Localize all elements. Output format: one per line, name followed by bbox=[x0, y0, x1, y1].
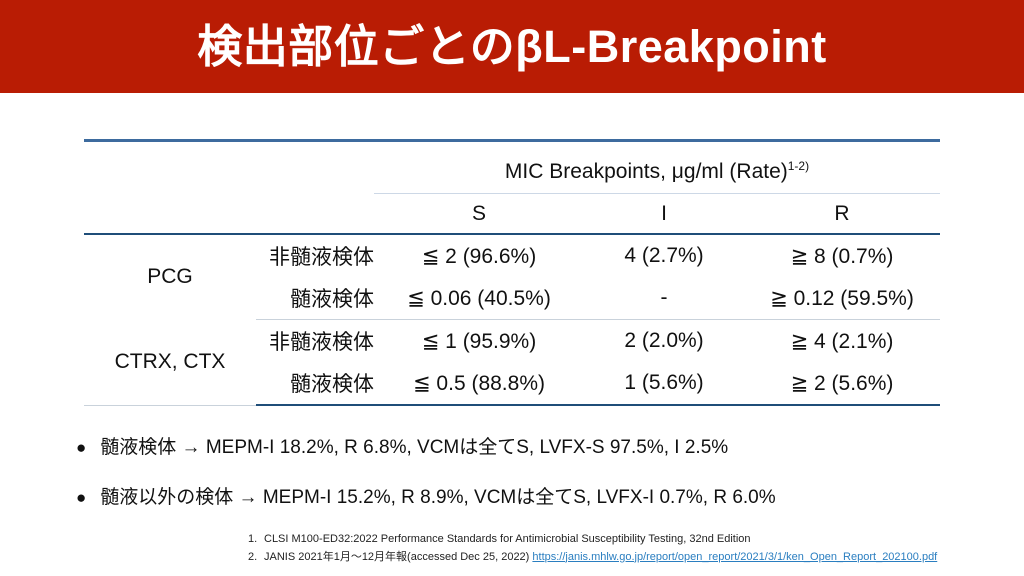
page-title: 検出部位ごとのβL-Breakpoint bbox=[197, 24, 827, 69]
sample-label: 非髄液検体 bbox=[256, 234, 374, 277]
table-sir-header-row: S I R bbox=[84, 194, 940, 235]
bullet-text: 髄液以外の検体 → MEPM-I 15.2%, R 8.9%, VCMは全てS,… bbox=[100, 482, 775, 509]
value-s: ≦ 1 (95.9%) bbox=[374, 320, 584, 363]
value-i: - bbox=[584, 277, 744, 320]
footnote-number: 2. bbox=[248, 549, 264, 567]
value-s: ≦ 0.5 (88.8%) bbox=[374, 362, 584, 405]
drug-label-ctrx-ctx: CTRX, CTX bbox=[84, 320, 256, 406]
sir-header-spacer-drug bbox=[84, 194, 256, 235]
mic-breakpoints-span-header: MIC Breakpoints, μg/ml (Rate)1-2) bbox=[374, 151, 940, 194]
column-header-r: R bbox=[744, 194, 940, 235]
bullet-text: 髄液検体 → MEPM-I 18.2%, R 6.8%, VCMは全てS, LV… bbox=[100, 432, 728, 459]
column-header-s: S bbox=[374, 194, 584, 235]
span-header-text: MIC Breakpoints, μg/ml (Rate) bbox=[505, 160, 788, 183]
bullet-dot-icon: ● bbox=[76, 489, 86, 506]
table-row: CTRX, CTX 非髄液検体 ≦ 1 (95.9%) 2 (2.0%) ≧ 4… bbox=[84, 320, 940, 363]
mic-breakpoints-table-container: MIC Breakpoints, μg/ml (Rate)1-2) S I R … bbox=[84, 139, 940, 406]
summary-bullet-list: ● 髄液検体 → MEPM-I 18.2%, R 6.8%, VCMは全てS, … bbox=[76, 432, 976, 532]
footnote-number: 1. bbox=[248, 531, 264, 549]
table-row: PCG 非髄液検体 ≦ 2 (96.6%) 4 (2.7%) ≧ 8 (0.7%… bbox=[84, 234, 940, 277]
value-r: ≧ 4 (2.1%) bbox=[744, 320, 940, 363]
value-s: ≦ 0.06 (40.5%) bbox=[374, 277, 584, 320]
sir-header-spacer-sample bbox=[256, 194, 374, 235]
footnote-list: 1.CLSI M100-ED32:2022 Performance Standa… bbox=[248, 531, 1024, 567]
footnote-text: JANIS 2021年1月～12月年報(accessed Dec 25, 202… bbox=[264, 551, 532, 563]
value-i: 2 (2.0%) bbox=[584, 320, 744, 363]
table-top-rule bbox=[84, 141, 940, 152]
column-header-i: I bbox=[584, 194, 744, 235]
span-header-spacer-sample bbox=[256, 151, 374, 194]
bullet-dot-icon: ● bbox=[76, 439, 86, 456]
list-item: ● 髄液以外の検体 → MEPM-I 15.2%, R 8.9%, VCMは全て… bbox=[76, 482, 976, 509]
value-r: ≧ 2 (5.6%) bbox=[744, 362, 940, 405]
table-top-rule-row bbox=[84, 141, 940, 152]
sample-label: 髄液検体 bbox=[256, 277, 374, 320]
value-i: 4 (2.7%) bbox=[584, 234, 744, 277]
drug-label-pcg: PCG bbox=[84, 234, 256, 320]
span-header-spacer-drug bbox=[84, 151, 256, 194]
value-i: 1 (5.6%) bbox=[584, 362, 744, 405]
footnote-1: 1.CLSI M100-ED32:2022 Performance Standa… bbox=[248, 531, 1024, 549]
sample-label: 髄液検体 bbox=[256, 362, 374, 405]
list-item: ● 髄液検体 → MEPM-I 18.2%, R 6.8%, VCMは全てS, … bbox=[76, 432, 976, 459]
span-header-superscript: 1-2) bbox=[788, 159, 809, 173]
sample-label: 非髄液検体 bbox=[256, 320, 374, 363]
value-r: ≧ 8 (0.7%) bbox=[744, 234, 940, 277]
mic-breakpoints-table: MIC Breakpoints, μg/ml (Rate)1-2) S I R … bbox=[84, 139, 940, 406]
value-r: ≧ 0.12 (59.5%) bbox=[744, 277, 940, 320]
janis-report-link[interactable]: https://janis.mhlw.go.jp/report/open_rep… bbox=[532, 551, 937, 563]
title-banner: 検出部位ごとのβL-Breakpoint bbox=[0, 0, 1024, 93]
footnote-2: 2.JANIS 2021年1月～12月年報(accessed Dec 25, 2… bbox=[248, 549, 1024, 567]
value-s: ≦ 2 (96.6%) bbox=[374, 234, 584, 277]
footnote-text: CLSI M100-ED32:2022 Performance Standard… bbox=[264, 533, 751, 545]
table-span-header-row: MIC Breakpoints, μg/ml (Rate)1-2) bbox=[84, 151, 940, 194]
